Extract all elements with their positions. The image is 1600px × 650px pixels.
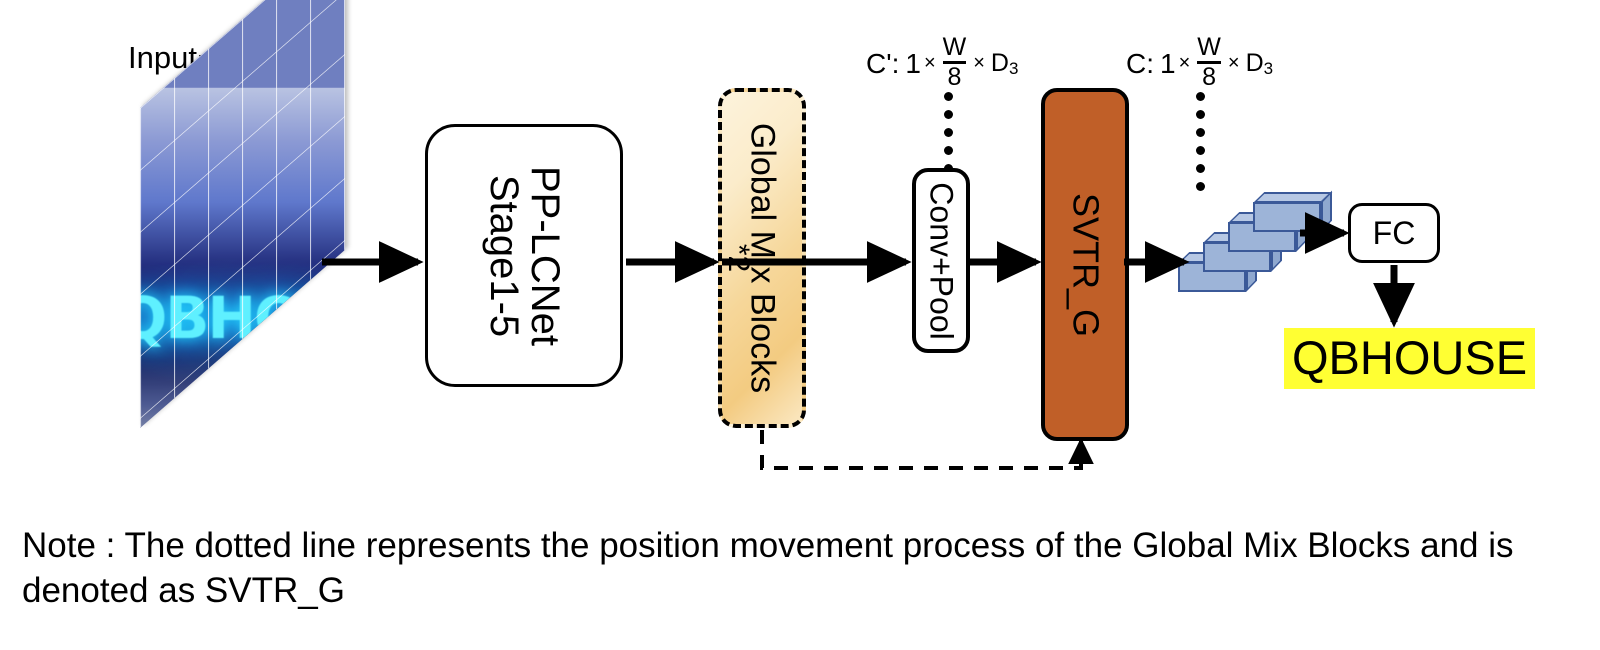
output-text: QBHOUSE [1284,328,1535,389]
dim-label-c-times1: × [1176,52,1194,75]
input-image-text: QBHOUSE [140,284,345,352]
stacked-feature-blocks [1178,190,1308,290]
dim-label-c-prime-numerator: W [943,35,967,61]
block-pp-lcnet-label: PP-LCNet Stage1-5 [483,165,565,345]
dim-label-c-prime-times2: × [970,52,988,75]
dim-label-c-denominator: 8 [1202,64,1216,90]
block-svtr-g[interactable]: SVTR_G [1041,88,1129,441]
dim-label-c-prime: C': 1 × W 8 × D3 [866,36,1018,91]
dim-label-c-prime-tail: D [988,49,1009,78]
note-text: Note : The dotted line represents the po… [22,524,1582,614]
dim-label-c-prime-times1: × [921,52,939,75]
dim-label-c-prime-denominator: 8 [947,64,961,90]
block-global-mix-blocks-multiplier: *2 [721,244,755,272]
dim-label-c-numerator: W [1197,35,1221,61]
feature-block [1253,192,1331,214]
block-fc[interactable]: FC [1348,203,1440,263]
block-front-face [1253,202,1321,232]
dim-label-c-prime-prefix: C': [866,48,899,80]
diagram-canvas: Input: H×W×3 QBHOUSE PP-LCNet Stage1-5 G… [0,0,1600,650]
dim-label-c-prime-fraction: W 8 [939,35,971,90]
dim-label-c-prefix: C: [1126,48,1154,80]
block-conv-pool[interactable]: Conv+Pool [912,168,970,353]
block-global-mix-blocks[interactable]: Global Mix Blocks *2 [718,88,806,428]
dim-label-c-tail-sub: 3 [1264,59,1273,79]
block-pp-lcnet[interactable]: PP-LCNet Stage1-5 [425,124,623,387]
dim-label-c-prime-tail-sub: 3 [1009,59,1018,79]
dim-label-c-times2: × [1225,52,1243,75]
dim-label-c-one: 1 [1154,48,1176,80]
block-pp-lcnet-line2: Stage1-5 [483,165,524,345]
dim-label-c-prime-one: 1 [899,48,921,80]
dim-label-c-fraction: W 8 [1193,35,1225,90]
block-conv-pool-label: Conv+Pool [925,182,958,339]
dotted-connector-c [1196,92,1205,200]
dashed-position-movement-path [762,430,1081,468]
input-image-photo: QBHOUSE [140,88,345,428]
dim-label-c-tail: D [1243,49,1264,78]
block-fc-label: FC [1351,206,1437,260]
block-pp-lcnet-line1: PP-LCNet [524,165,565,345]
input-image: QBHOUSE [140,108,370,458]
dim-label-c: C: 1 × W 8 × D3 [1126,36,1273,91]
block-svtr-g-label: SVTR_G [1067,192,1104,336]
